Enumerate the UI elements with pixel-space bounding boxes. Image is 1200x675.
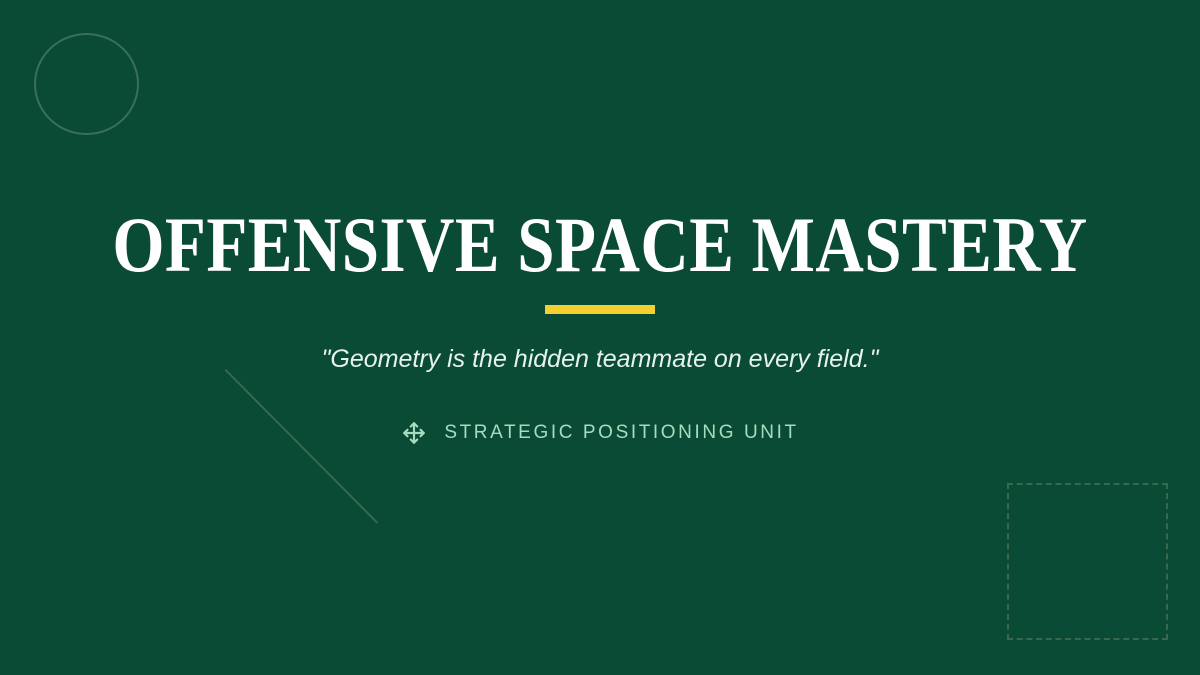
page-title: OFFENSIVE SPACE MASTERY <box>84 206 1116 284</box>
arrows-move-icon <box>401 420 427 446</box>
slide-content: OFFENSIVE SPACE MASTERY "Geometry is the… <box>0 0 1200 675</box>
accent-bar <box>545 305 655 314</box>
title-slide: OFFENSIVE SPACE MASTERY "Geometry is the… <box>0 0 1200 675</box>
unit-label: STRATEGIC POSITIONING UNIT <box>444 422 798 444</box>
unit-badge: STRATEGIC POSITIONING UNIT <box>0 420 1200 446</box>
slide-quote: "Geometry is the hidden teammate on ever… <box>0 344 1200 374</box>
